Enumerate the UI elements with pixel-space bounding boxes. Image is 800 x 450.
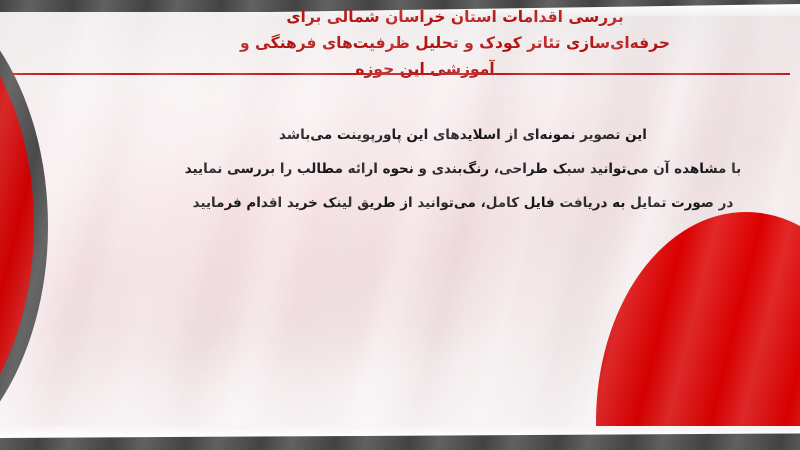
slide-title-line-1: بررسی اقدامات استان خراسان شمالی برای [140,4,770,30]
red-horizontal-rule [12,73,790,75]
slide-body-line-2: با مشاهده آن می‌توانید سبک طراحی، رنگ‌بن… [150,152,776,186]
slide-body-line-3: در صورت تمایل به دریافت فایل کامل، می‌تو… [150,186,776,220]
slide-title: بررسی اقدامات استان خراسان شمالی برای حر… [140,4,770,82]
presentation-slide: بررسی اقدامات استان خراسان شمالی برای حر… [0,0,800,450]
slide-content: بررسی اقدامات استان خراسان شمالی برای حر… [0,0,800,450]
slide-body-text: این تصویر نمونه‌ای از اسلایدهای این پاور… [150,118,776,220]
slide-title-line-2: حرفه‌ای‌سازی تئاتر کودک و تحلیل ظرفیت‌ها… [140,30,770,56]
slide-title-line-3: آموزشی این حوزه [140,56,770,82]
slide-body-line-1: این تصویر نمونه‌ای از اسلایدهای این پاور… [150,118,776,152]
